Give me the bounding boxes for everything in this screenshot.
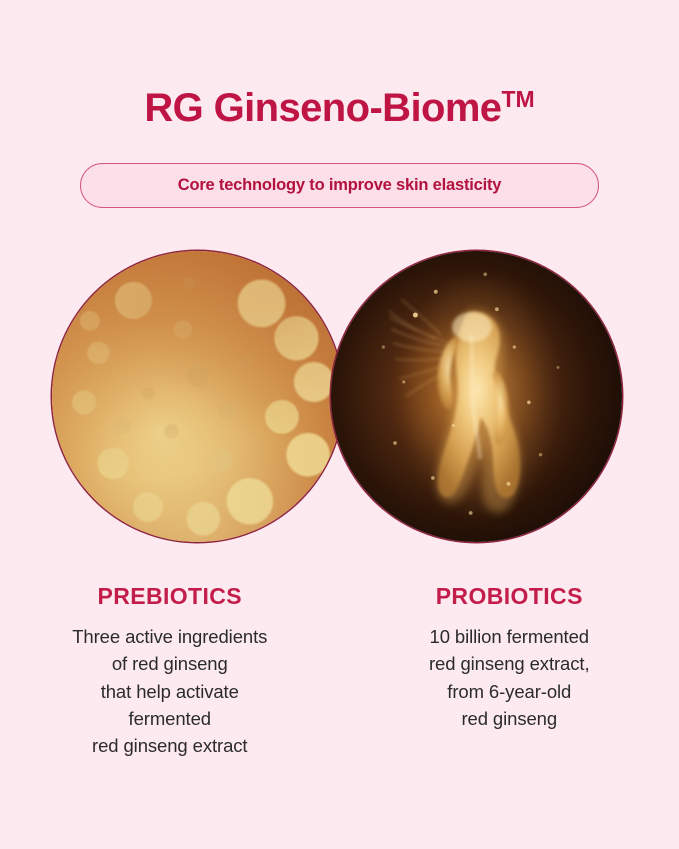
image-row <box>0 251 679 543</box>
probiotics-line-3: from 6-year-old <box>340 678 679 705</box>
probiotics-column: PROBIOTICS 10 billion fermented red gins… <box>340 584 679 759</box>
prebiotics-line-1: Three active ingredients <box>0 623 340 650</box>
probiotics-description: 10 billion fermented red ginseng extract… <box>340 623 679 732</box>
page-title-text: RG Ginseno-Biome <box>144 86 501 130</box>
probiotics-line-1: 10 billion fermented <box>340 623 679 650</box>
page-title: RG Ginseno-BiomeTM <box>0 86 679 131</box>
caption-row: PREBIOTICS Three active ingredients of r… <box>0 584 679 759</box>
trademark-superscript: TM <box>501 86 534 112</box>
prebiotics-line-2: of red ginseng <box>0 650 340 677</box>
prebiotics-line-5: red ginseng extract <box>0 732 340 759</box>
product-infographic-page: RG Ginseno-BiomeTM Core technology to im… <box>0 0 679 849</box>
tagline-badge-text: Core technology to improve skin elastici… <box>178 176 502 195</box>
probiotics-circle-image <box>331 251 622 542</box>
prebiotics-description: Three active ingredients of red ginseng … <box>0 623 340 759</box>
prebiotics-line-3: that help activate <box>0 678 340 705</box>
probiotics-line-2: red ginseng extract, <box>340 650 679 677</box>
probiotics-heading: PROBIOTICS <box>340 584 679 609</box>
probiotics-line-4: red ginseng <box>340 705 679 732</box>
prebiotics-column: PREBIOTICS Three active ingredients of r… <box>0 584 340 759</box>
serum-shading-overlay <box>52 251 343 542</box>
prebiotics-circle-image <box>52 251 343 542</box>
tagline-badge: Core technology to improve skin elastici… <box>80 163 599 208</box>
light-particles <box>331 251 622 542</box>
prebiotics-heading: PREBIOTICS <box>0 584 340 609</box>
prebiotics-line-4: fermented <box>0 705 340 732</box>
